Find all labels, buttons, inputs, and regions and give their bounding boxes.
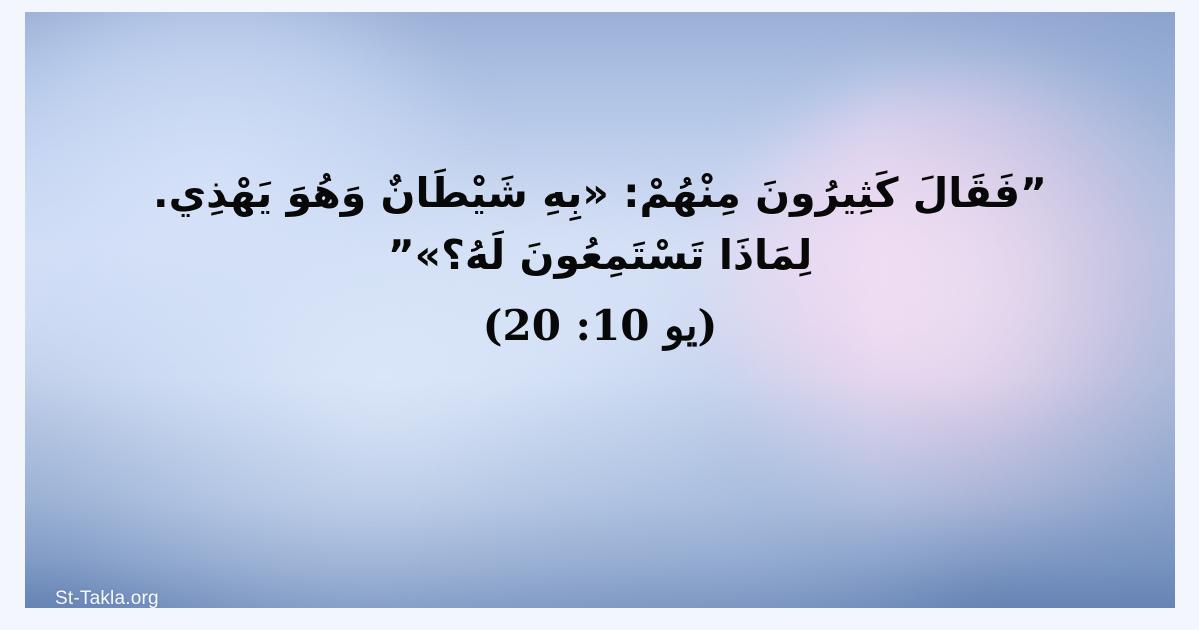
verse-line-1: ”فَقَالَ كَثِيرُونَ مِنْهُمْ: «بِهِ شَيْ… xyxy=(95,162,1105,224)
verse-block: ”فَقَالَ كَثِيرُونَ مِنْهُمْ: «بِهِ شَيْ… xyxy=(25,162,1175,351)
verse-line-2: لِمَاذَا تَسْتَمِعُونَ لَهُ؟»” xyxy=(95,224,1105,286)
image-canvas: ”فَقَالَ كَثِيرُونَ مِنْهُمْ: «بِهِ شَيْ… xyxy=(0,0,1199,630)
verse-photo: ”فَقَالَ كَثِيرُونَ مِنْهُمْ: «بِهِ شَيْ… xyxy=(25,12,1175,608)
verse-reference: (يو 10: 20) xyxy=(65,301,1135,351)
site-watermark: St-Takla.org xyxy=(55,588,159,608)
